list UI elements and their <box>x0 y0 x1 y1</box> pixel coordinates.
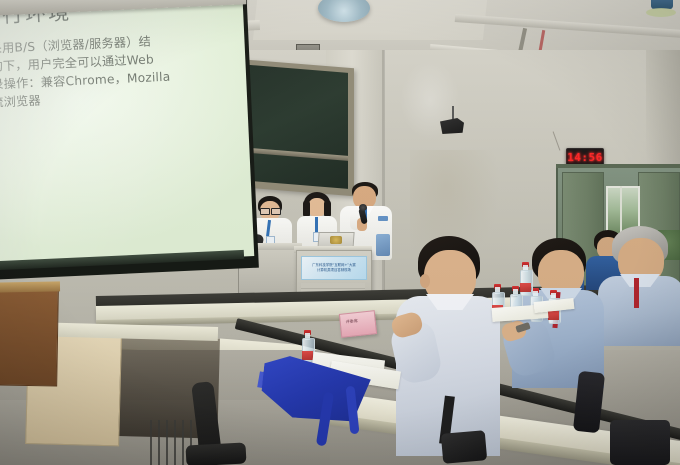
speaker-wire <box>452 106 454 120</box>
ceiling-panel <box>253 0 487 40</box>
name-card: 评委席 <box>339 310 377 338</box>
water-bottle[interactable] <box>520 262 531 288</box>
ceiling-fan-blade <box>646 8 676 17</box>
shirt-logo <box>378 216 388 221</box>
classroom-presentation-photo: 14:56 运行环境 系统能采用B/S（浏览器/服务器）结 这种结构下，用户完全… <box>0 0 680 465</box>
clock-time-text: 14:56 <box>567 152 603 163</box>
water-bottle[interactable] <box>302 330 313 362</box>
chair-seat[interactable] <box>185 442 246 465</box>
screen-glare <box>0 0 254 268</box>
chair-seat[interactable] <box>610 420 670 465</box>
bottle-label <box>548 311 559 320</box>
laptop-screen-graphic <box>330 236 342 244</box>
bottle-label <box>520 283 531 292</box>
projection-screen: 运行环境 系统能采用B/S（浏览器/服务器）结 这种结构下，用户完全可以通过We… <box>0 0 254 268</box>
ceiling-beam <box>455 14 680 39</box>
ear <box>420 274 430 288</box>
shirt-panel <box>376 234 390 256</box>
name-card-text: 评委席 <box>345 318 357 324</box>
bottle-label <box>302 351 313 360</box>
banner-line-2: 计算机类项目答辩现场 <box>317 268 351 273</box>
wooden-lectern-top <box>0 281 60 292</box>
eyeglasses-icon <box>271 208 281 215</box>
attendee-foreground <box>396 236 500 456</box>
lanyard <box>315 217 318 233</box>
shoulder-bag <box>441 430 487 464</box>
podium-banner: 广东科技学院“互联网+”大赛 计算机类项目答辩现场 <box>301 256 367 280</box>
eyeglasses-icon <box>260 208 270 215</box>
lanyard <box>634 278 639 308</box>
wall-pillar-edge <box>382 50 385 300</box>
judge-gray-hair <box>598 226 680 346</box>
wooden-lectern <box>0 287 59 386</box>
microphone-head-icon <box>359 204 367 211</box>
